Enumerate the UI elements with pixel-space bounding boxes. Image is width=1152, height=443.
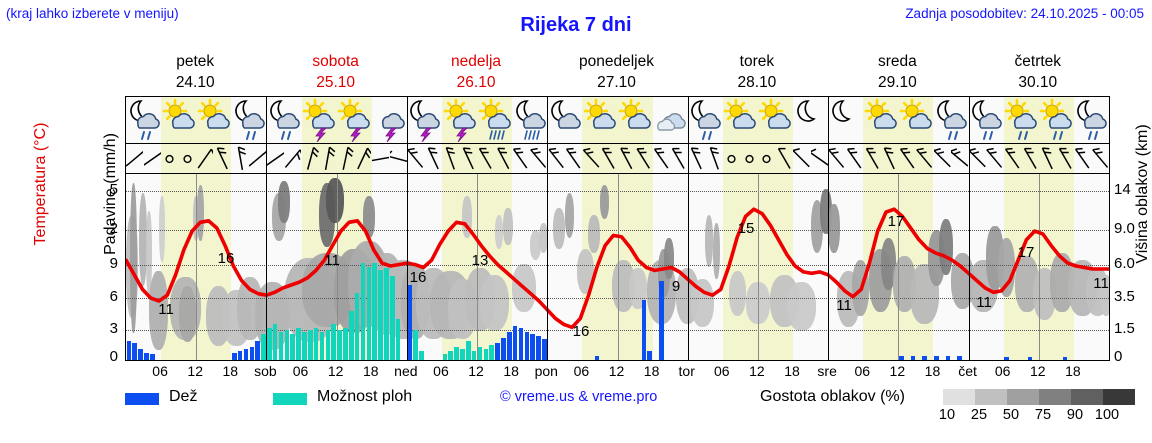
- day-separator-1: [266, 97, 267, 360]
- wind-barb-icon: [1092, 144, 1109, 173]
- weather-icon-sun-cloud: [197, 98, 231, 142]
- weather-icon-cloud-thunder: [372, 98, 406, 142]
- wind-barb-icon: [916, 144, 933, 173]
- wind-barb-icon: [618, 144, 635, 173]
- cloud-density-tick-10: 10: [939, 407, 955, 423]
- precipitation-tick-3: 6: [98, 288, 118, 305]
- temperature-value-label: 11: [976, 294, 992, 311]
- temperature-value-label: 15: [738, 220, 755, 237]
- wind-barb-icon: [477, 144, 494, 173]
- wind-barb-icon: [372, 144, 389, 173]
- copyright-text: © vreme.us & vreme.pro: [500, 389, 657, 405]
- cloud-density-tick-50: 50: [1003, 407, 1019, 423]
- day-header-1: petek24.10: [125, 51, 265, 96]
- wind-barb-icon: [600, 144, 617, 173]
- temperature-curve: [126, 174, 1109, 360]
- x-tick-sob: sob: [254, 363, 277, 379]
- precipitation-tick-5: 0: [98, 348, 118, 365]
- x-tick-ned: ned: [394, 363, 417, 379]
- precipitation-tick-4: 3: [98, 320, 118, 337]
- day-date: 25.10: [265, 72, 405, 93]
- weather-icon-moon-cloud-rain: [513, 98, 547, 142]
- cloud-density-tick-75: 75: [1035, 407, 1051, 423]
- cloud-density-ramp-step-10: [943, 389, 975, 405]
- cloud-density-ramp-step-75: [1039, 389, 1071, 405]
- x-tick-12: 12: [187, 363, 203, 379]
- day-header-2: sobota25.10: [265, 51, 405, 96]
- meteogram-plot-area: 1116111613169151117111711: [126, 174, 1109, 360]
- wind-barb-icon: [811, 144, 828, 173]
- day-header-5: torek28.10: [687, 51, 827, 96]
- weather-icon-sun-cloud-thunder: [443, 98, 477, 142]
- cloud-density-tick-25: 25: [971, 407, 987, 423]
- temperature-value-label: 11: [1093, 275, 1109, 292]
- weather-icon-sun-cloud: [723, 98, 757, 142]
- wind-barb-icon: [425, 144, 442, 173]
- wind-barb-row: [126, 144, 1109, 174]
- temperature-axis-title: Temperatura (°C): [32, 99, 50, 269]
- wind-barb-icon: [986, 144, 1003, 173]
- wind-barb-icon: [284, 144, 301, 173]
- cloud-density-ramp-step-25: [975, 389, 1007, 405]
- wind-barb-icon: [354, 144, 371, 173]
- wind-calm-icon: [758, 144, 775, 173]
- cloudheight-tick-2: 6.0: [1114, 255, 1148, 272]
- wind-barb-icon: [302, 144, 319, 173]
- day-separator-5: [828, 97, 829, 360]
- wind-barb-icon: [512, 144, 529, 173]
- precipitation-tick-2: 9: [98, 255, 118, 272]
- x-tick-18: 18: [784, 363, 800, 379]
- wind-barb-icon: [319, 144, 336, 173]
- wind-barb-icon: [565, 144, 582, 173]
- chart-legend: Dež Možnost ploh © vreme.us & vreme.pro …: [125, 388, 1145, 428]
- wind-barb-icon: [635, 144, 652, 173]
- x-tick-12: 12: [890, 363, 906, 379]
- temperature-value-label: 17: [1018, 244, 1035, 261]
- weather-icon-sun-cloud-thunder: [302, 98, 336, 142]
- weather-icon-moon: [794, 98, 828, 142]
- wind-barb-icon: [828, 144, 845, 173]
- wind-barb-icon: [460, 144, 477, 173]
- wind-barb-icon: [706, 144, 723, 173]
- wind-barb-icon: [951, 144, 968, 173]
- cloud-density-ramp-step-90: [1071, 389, 1103, 405]
- wind-barb-icon: [196, 144, 213, 173]
- wind-calm-icon: [161, 144, 178, 173]
- wind-barb-icon: [390, 144, 407, 173]
- wind-barb-icon: [407, 144, 424, 173]
- day-name: ponedeljek: [546, 51, 686, 72]
- x-tick-12: 12: [749, 363, 765, 379]
- cloud-density-tick-labels: 1025507590100: [937, 407, 1152, 425]
- wind-calm-icon: [179, 144, 196, 173]
- x-tick-12: 12: [468, 363, 484, 379]
- day-separator-4: [688, 97, 689, 360]
- wind-barb-icon: [232, 144, 249, 173]
- day-name: sobota: [265, 51, 405, 72]
- temperature-value-label: 17: [888, 213, 905, 230]
- x-tick-pon: pon: [535, 363, 558, 379]
- wind-barb-icon: [1074, 144, 1091, 173]
- weather-icon-sun-cloud: [899, 98, 933, 142]
- day-date: 30.10: [968, 72, 1108, 93]
- weather-icon-sun-cloud: [162, 98, 196, 142]
- cloudheight-tick-0: 14: [1114, 181, 1148, 198]
- rain-legend-label: Dež: [169, 388, 197, 406]
- temperature-value-label: 16: [573, 323, 590, 340]
- x-tick-18: 18: [503, 363, 519, 379]
- wind-barb-icon: [144, 144, 161, 173]
- wind-barb-icon: [495, 144, 512, 173]
- weather-icon-sun-cloud: [758, 98, 792, 142]
- day-separator-6: [969, 97, 970, 360]
- x-tick-18: 18: [363, 363, 379, 379]
- day-name: četrtek: [968, 51, 1108, 72]
- wind-barb-icon: [653, 144, 670, 173]
- day-date: 27.10: [546, 72, 686, 93]
- wind-barb-icon: [548, 144, 565, 173]
- temperature-value-label: 13: [472, 252, 489, 269]
- day-name: torek: [687, 51, 827, 72]
- weather-icon-moon-cloud-drizzle: [934, 98, 968, 142]
- cloud-density-tick-100: 100: [1095, 407, 1119, 423]
- weather-icon-moon-cloud-drizzle: [232, 98, 266, 142]
- x-tick-06: 06: [293, 363, 309, 379]
- precipitation-tick-1: 2: [98, 220, 118, 237]
- temperature-value-label: 16: [410, 269, 427, 286]
- wind-barb-icon: [337, 144, 354, 173]
- x-tick-čet: čet: [958, 363, 977, 379]
- x-tick-18: 18: [925, 363, 941, 379]
- x-tick-12: 12: [1030, 363, 1046, 379]
- weather-icon-moon-cloud-drizzle: [127, 98, 161, 142]
- x-tick-18: 18: [644, 363, 660, 379]
- day-date: 26.10: [406, 72, 546, 93]
- wind-barb-icon: [126, 144, 143, 173]
- forecast-chart: 1116111613169151117111711: [125, 96, 1110, 361]
- cloud-density-ramp-step-50: [1007, 389, 1039, 405]
- temperature-value-label: 16: [218, 250, 235, 267]
- weather-icon-row: [126, 97, 1109, 144]
- weather-icon-moon-cloud-drizzle: [969, 98, 1003, 142]
- day-header-6: sreda29.10: [827, 51, 967, 96]
- wind-barb-icon: [530, 144, 547, 173]
- x-tick-06: 06: [714, 363, 730, 379]
- temperature-value-label: 11: [836, 297, 852, 314]
- x-tick-06: 06: [854, 363, 870, 379]
- weather-icon-sun-cloud-rain: [478, 98, 512, 142]
- weather-icon-moon-cloud-drizzle: [1074, 98, 1108, 142]
- wind-barb-icon: [1039, 144, 1056, 173]
- wind-barb-icon: [1022, 144, 1039, 173]
- x-tick-12: 12: [609, 363, 625, 379]
- cloud-density-colour-ramp: [943, 389, 1135, 405]
- day-header-strip: petek24.10sobota25.10nedelja26.10ponedel…: [125, 51, 1110, 96]
- weather-icon-moon: [829, 98, 863, 142]
- wind-barb-icon: [776, 144, 793, 173]
- weather-icon-sun-cloud-drizzle: [1039, 98, 1073, 142]
- weather-icon-cloud: [653, 98, 687, 142]
- cloudheight-tick-4: 1.5: [1114, 320, 1148, 337]
- x-tick-18: 18: [223, 363, 239, 379]
- x-tick-06: 06: [995, 363, 1011, 379]
- day-header-7: četrtek30.10: [968, 51, 1108, 96]
- wind-barb-icon: [670, 144, 687, 173]
- weather-icon-moon-cloud-drizzle: [688, 98, 722, 142]
- cloudheight-tick-3: 3.5: [1114, 288, 1148, 305]
- x-tick-12: 12: [328, 363, 344, 379]
- day-separator-2: [407, 97, 408, 360]
- cloud-density-ramp-step-100: [1103, 389, 1135, 405]
- day-date: 24.10: [125, 72, 265, 93]
- x-tick-18: 18: [1065, 363, 1081, 379]
- weather-icon-sun-cloud: [864, 98, 898, 142]
- wind-calm-icon: [723, 144, 740, 173]
- day-separator-3: [547, 97, 548, 360]
- weather-icon-moon-cloud-thunder: [407, 98, 441, 142]
- weather-icon-moon-cloud: [548, 98, 582, 142]
- day-name: petek: [125, 51, 265, 72]
- wind-barb-icon: [442, 144, 459, 173]
- x-tick-06: 06: [574, 363, 590, 379]
- showers-legend-swatch: [273, 393, 307, 405]
- wind-barb-icon: [249, 144, 266, 173]
- wind-barb-icon: [846, 144, 863, 173]
- day-name: nedelja: [406, 51, 546, 72]
- cloud-density-tick-90: 90: [1067, 407, 1083, 423]
- weather-icon-moon-cloud-drizzle: [267, 98, 301, 142]
- day-date: 29.10: [827, 72, 967, 93]
- cloud-density-legend-title: Gostota oblakov (%): [760, 388, 905, 406]
- x-tick-sre: sre: [817, 363, 836, 379]
- x-tick-06: 06: [152, 363, 168, 379]
- day-header-3: nedelja26.10: [406, 51, 546, 96]
- x-tick-06: 06: [433, 363, 449, 379]
- wind-barb-icon: [688, 144, 705, 173]
- wind-barb-icon: [583, 144, 600, 173]
- cloudheight-tick-1: 9.0: [1114, 220, 1148, 237]
- last-updated-text: Zadnja posodobitev: 24.10.2025 - 00:05: [905, 6, 1144, 21]
- wind-barb-icon: [864, 144, 881, 173]
- rain-legend-swatch: [125, 393, 159, 405]
- weather-icon-sun-cloud-thunder: [337, 98, 371, 142]
- weather-icon-sun-cloud: [618, 98, 652, 142]
- wind-barb-icon: [969, 144, 986, 173]
- x-tick-tor: tor: [679, 363, 695, 379]
- wind-barb-icon: [1004, 144, 1021, 173]
- temperature-value-label: 11: [324, 252, 340, 269]
- temperature-value-label: 9: [672, 278, 680, 295]
- wind-barb-icon: [793, 144, 810, 173]
- wind-barb-icon: [1057, 144, 1074, 173]
- wind-barb-icon: [214, 144, 231, 173]
- weather-icon-sun-cloud: [583, 98, 617, 142]
- wind-barb-icon: [899, 144, 916, 173]
- day-name: sreda: [827, 51, 967, 72]
- day-header-4: ponedeljek27.10: [546, 51, 686, 96]
- wind-barb-icon: [934, 144, 951, 173]
- wind-barb-icon: [267, 144, 284, 173]
- wind-barb-icon: [881, 144, 898, 173]
- cloudheight-tick-5: 0: [1114, 348, 1148, 365]
- precipitation-tick-0: 5: [98, 181, 118, 198]
- showers-legend-label: Možnost ploh: [317, 388, 412, 406]
- day-date: 28.10: [687, 72, 827, 93]
- weather-icon-sun-cloud-drizzle: [1004, 98, 1038, 142]
- wind-calm-icon: [741, 144, 758, 173]
- temperature-value-label: 11: [158, 301, 174, 318]
